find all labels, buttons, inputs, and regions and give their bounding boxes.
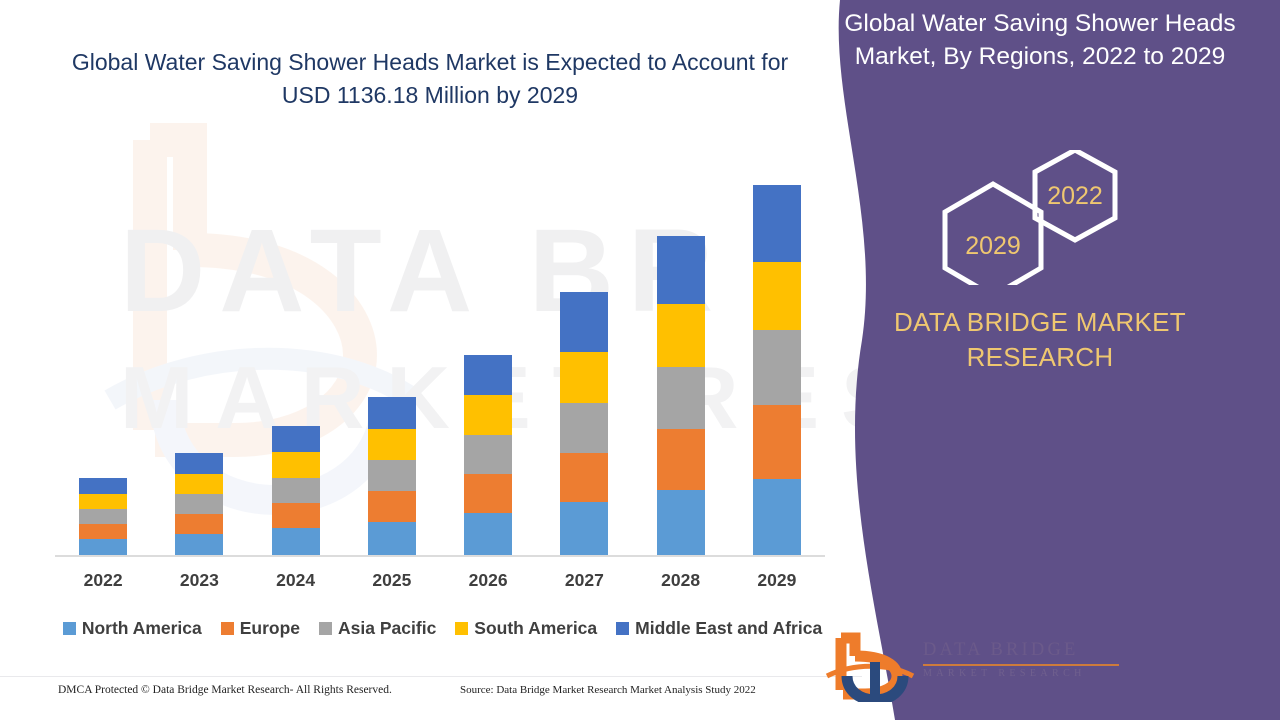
bar-segment — [657, 367, 705, 429]
chart-title: Global Water Saving Shower Heads Market … — [60, 46, 800, 113]
bar-segment — [560, 403, 608, 453]
legend-item[interactable]: North America — [63, 618, 202, 639]
bar-segment — [753, 405, 801, 479]
bar-2025 — [368, 397, 416, 555]
bar-segment — [79, 494, 127, 509]
bar-segment — [272, 478, 320, 503]
bar-segment — [657, 236, 705, 304]
bar-2026 — [464, 355, 512, 555]
legend-item[interactable]: Middle East and Africa — [616, 618, 822, 639]
bar-segment — [657, 429, 705, 490]
bar-2022 — [79, 478, 127, 555]
footer-logo: DATA BRIDGE MARKET RESEARCH — [825, 632, 1125, 704]
bar-segment — [368, 397, 416, 429]
footer-logo-rule — [923, 664, 1119, 666]
bar-segment — [753, 479, 801, 555]
legend-swatch-icon — [221, 622, 234, 635]
legend-label: North America — [82, 618, 202, 639]
stacked-bar-series-group — [55, 150, 825, 555]
bar-segment — [753, 262, 801, 330]
legend-label: Middle East and Africa — [635, 618, 822, 639]
bar-segment — [272, 426, 320, 452]
x-tick-2022: 2022 — [79, 570, 127, 596]
footer: DMCA Protected © Data Bridge Market Rese… — [0, 684, 860, 706]
bar-segment — [560, 352, 608, 403]
bar-2029 — [753, 185, 801, 555]
bar-segment — [368, 429, 416, 460]
panel-title: Global Water Saving Shower Heads Market,… — [830, 8, 1250, 73]
bar-segment — [175, 474, 223, 494]
bar-segment — [79, 509, 127, 524]
legend-swatch-icon — [616, 622, 629, 635]
brand-panel: Global Water Saving Shower Heads Market,… — [800, 0, 1280, 720]
bar-segment — [464, 435, 512, 474]
footer-copyright: DMCA Protected © Data Bridge Market Rese… — [58, 684, 392, 696]
x-axis-line — [55, 555, 825, 557]
chart-legend: North AmericaEuropeAsia PacificSouth Ame… — [55, 615, 830, 641]
footer-logo-name: DATA BRIDGE — [923, 640, 1119, 661]
bar-segment — [560, 292, 608, 352]
bar-segment — [175, 534, 223, 555]
bar-segment — [753, 185, 801, 262]
bar-segment — [464, 513, 512, 555]
bar-segment — [272, 503, 320, 528]
footer-source: Source: Data Bridge Market Research Mark… — [460, 684, 756, 696]
x-tick-2028: 2028 — [657, 570, 705, 596]
infographic-canvas: DATA BR MARKET RESEARCH Global Water Sav… — [0, 0, 1280, 720]
bar-2023 — [175, 453, 223, 555]
dbmr-mark-icon — [825, 632, 917, 702]
bar-segment — [175, 514, 223, 534]
bar-segment — [657, 304, 705, 367]
legend-item[interactable]: Asia Pacific — [319, 618, 436, 639]
bar-segment — [464, 355, 512, 395]
x-tick-2026: 2026 — [464, 570, 512, 596]
x-axis-tick-labels: 20222023202420252026202720282029 — [55, 570, 825, 596]
x-tick-2027: 2027 — [560, 570, 608, 596]
x-tick-2024: 2024 — [272, 570, 320, 596]
bar-segment — [175, 453, 223, 474]
hexagon-badges: 2029 2022 — [905, 150, 1205, 285]
bar-segment — [368, 491, 416, 522]
bar-segment — [464, 474, 512, 513]
footer-divider — [0, 676, 862, 677]
legend-label: Europe — [240, 618, 300, 639]
x-tick-2029: 2029 — [753, 570, 801, 596]
bar-segment — [272, 528, 320, 555]
legend-item[interactable]: Europe — [221, 618, 300, 639]
brand-line-2: RESEARCH — [820, 340, 1260, 375]
legend-swatch-icon — [455, 622, 468, 635]
bar-segment — [368, 522, 416, 555]
bar-segment — [560, 453, 608, 502]
bar-segment — [368, 460, 416, 491]
legend-label: Asia Pacific — [338, 618, 436, 639]
brand-name: DATA BRIDGE MARKET RESEARCH — [820, 305, 1260, 375]
legend-label: South America — [474, 618, 597, 639]
bar-segment — [175, 494, 223, 514]
bar-segment — [753, 330, 801, 405]
hexagon-2022-label: 2022 — [1047, 182, 1103, 210]
bar-segment — [79, 524, 127, 539]
bar-segment — [560, 502, 608, 555]
legend-swatch-icon — [63, 622, 76, 635]
legend-swatch-icon — [319, 622, 332, 635]
footer-logo-tagline: MARKET RESEARCH — [923, 668, 1119, 679]
bar-2024 — [272, 426, 320, 555]
bar-2028 — [657, 236, 705, 555]
legend-item[interactable]: South America — [455, 618, 597, 639]
bar-2027 — [560, 292, 608, 555]
brand-line-1: DATA BRIDGE MARKET — [820, 305, 1260, 340]
x-tick-2025: 2025 — [368, 570, 416, 596]
bar-segment — [272, 452, 320, 478]
bar-segment — [79, 478, 127, 494]
hexagon-2029-label: 2029 — [965, 232, 1021, 260]
x-tick-2023: 2023 — [175, 570, 223, 596]
bar-segment — [464, 395, 512, 435]
bar-segment — [79, 539, 127, 555]
bar-segment — [657, 490, 705, 555]
